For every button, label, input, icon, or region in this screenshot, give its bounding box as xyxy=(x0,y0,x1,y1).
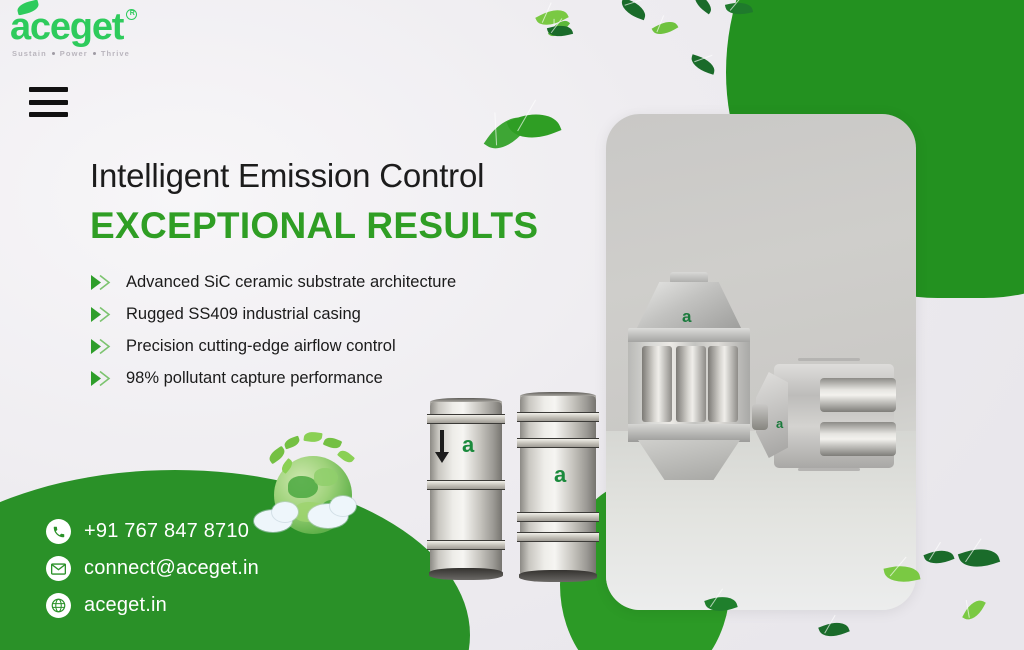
contact-email-row[interactable]: connect@aceget.in xyxy=(46,556,259,581)
leaf-icon xyxy=(689,54,718,74)
cloud-icon xyxy=(330,496,356,516)
contact-email-value: connect@aceget.in xyxy=(84,557,259,580)
product-logo-glyph: a xyxy=(462,434,474,456)
unit-chain-latch xyxy=(798,468,860,471)
product-image-card: a a xyxy=(606,114,916,610)
hamburger-bar xyxy=(29,100,68,105)
feature-list-item: Advanced SiC ceramic substrate architect… xyxy=(90,271,456,293)
hero-title-line2: EXCEPTIONAL RESULTS xyxy=(90,203,538,249)
contact-website-row[interactable]: aceget.in xyxy=(46,593,259,618)
unit-bottom-cone xyxy=(638,440,740,480)
cylinder-clamp-band xyxy=(517,438,599,448)
plant-sprout-icon xyxy=(323,435,343,451)
unit-chain-latch xyxy=(798,358,860,361)
hamburger-menu-icon[interactable] xyxy=(29,87,68,117)
plant-sprout-icon xyxy=(303,431,322,443)
tagline-word-1: Sustain xyxy=(12,49,47,58)
leaf-icon xyxy=(962,596,986,624)
unit-top-cone: a xyxy=(636,282,742,330)
eco-globe-illustration xyxy=(250,432,370,552)
leaf-icon xyxy=(652,17,679,39)
feature-list-item: 98% pollutant capture performance xyxy=(90,367,456,389)
bullet-dot-icon xyxy=(93,52,96,55)
unit-internal-cylinder xyxy=(676,346,706,422)
feature-list-item: Rugged SS409 industrial casing xyxy=(90,303,456,325)
hero-headline: Intelligent Emission Control EXCEPTIONAL… xyxy=(90,156,538,249)
unit-body xyxy=(628,342,750,426)
cylinder-clamp-band xyxy=(427,540,505,550)
brand-logo-wordmark: aceget R xyxy=(10,8,123,46)
tagline-word-3: Thrive xyxy=(101,49,130,58)
cylinder-clamp-band xyxy=(517,412,599,422)
unit-inlet-port xyxy=(752,404,768,430)
double-chevron-right-icon xyxy=(90,338,114,355)
cloud-icon xyxy=(272,502,298,522)
phone-icon xyxy=(46,519,71,544)
leaf-icon xyxy=(618,0,648,20)
flow-direction-arrow-icon xyxy=(435,452,449,463)
globe-landmass xyxy=(314,468,338,486)
cylinder-clamp-band xyxy=(427,414,505,424)
feature-list-item: Precision cutting-edge airflow control xyxy=(90,335,456,357)
cylinder-clamp-band xyxy=(517,512,599,522)
cylinder-base-rim xyxy=(429,568,503,580)
contact-website-value: aceget.in xyxy=(84,594,167,617)
banner-canvas: aceget R Sustain Power Thrive Intelligen… xyxy=(0,0,1024,650)
emission-unit-horizontal: a xyxy=(756,356,908,476)
brand-logo[interactable]: aceget R Sustain Power Thrive xyxy=(10,8,130,58)
emission-unit-vertical: a xyxy=(624,266,754,481)
globe-icon xyxy=(46,593,71,618)
registered-trademark-icon: R xyxy=(126,9,137,20)
unit-band xyxy=(628,424,750,442)
brand-tagline: Sustain Power Thrive xyxy=(12,49,130,58)
cylinder-clamp-band xyxy=(517,532,599,542)
plant-sprout-icon xyxy=(283,436,301,450)
bullet-dot-icon xyxy=(52,52,55,55)
hamburger-bar xyxy=(29,112,68,117)
feature-list: Advanced SiC ceramic substrate architect… xyxy=(90,271,456,399)
double-chevron-right-icon xyxy=(90,306,114,323)
feature-list-item-label: 98% pollutant capture performance xyxy=(126,369,383,388)
feature-list-item-label: Rugged SS409 industrial casing xyxy=(126,305,361,324)
cylinder-base-rim xyxy=(519,570,597,582)
envelope-icon xyxy=(46,556,71,581)
plant-sprout-icon xyxy=(337,448,355,465)
leaf-icon xyxy=(818,617,850,641)
unit-internal-cylinder xyxy=(820,422,896,456)
unit-internal-cylinder xyxy=(708,346,738,422)
unit-internal-cylinder xyxy=(820,378,896,412)
product-logo-glyph: a xyxy=(554,464,566,486)
tagline-word-2: Power xyxy=(60,49,88,58)
leaf-icon xyxy=(923,546,954,569)
leaf-icon xyxy=(507,104,562,148)
double-chevron-right-icon xyxy=(90,274,114,291)
cylinder-clamp-band xyxy=(427,480,505,490)
feature-list-item-label: Advanced SiC ceramic substrate architect… xyxy=(126,273,456,292)
leaf-icon xyxy=(691,0,715,14)
contact-info-block: +91 767 847 8710 connect@aceget.in acege… xyxy=(46,519,259,630)
leaf-icon xyxy=(958,543,1000,574)
hero-title-line1: Intelligent Emission Control xyxy=(90,156,538,196)
contact-phone-value: +91 767 847 8710 xyxy=(84,520,249,543)
unit-internal-cylinder xyxy=(642,346,672,422)
product-logo-glyph: a xyxy=(682,308,691,325)
unit-body xyxy=(774,364,894,468)
cylindrical-filter-units: a a xyxy=(420,388,610,588)
contact-phone-row[interactable]: +91 767 847 8710 xyxy=(46,519,259,544)
product-logo-glyph: a xyxy=(776,416,783,431)
double-chevron-right-icon xyxy=(90,370,114,387)
hamburger-bar xyxy=(29,87,68,92)
feature-list-item-label: Precision cutting-edge airflow control xyxy=(126,337,396,356)
